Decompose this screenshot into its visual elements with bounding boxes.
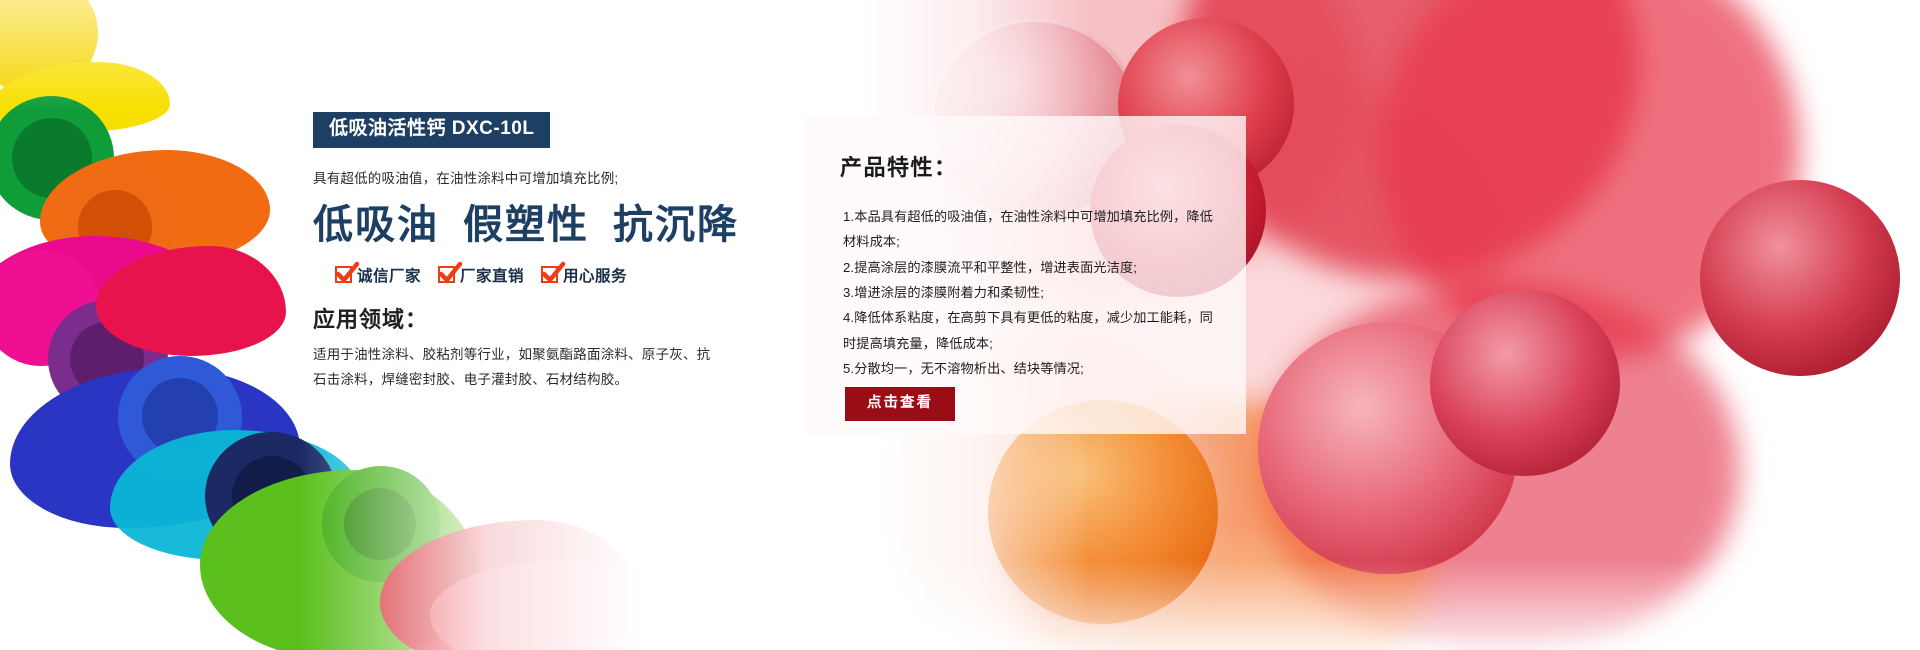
application-heading: 应用领域： <box>313 302 733 334</box>
headline-word-3: 抗沉降 <box>613 203 739 247</box>
trust-feature-2: 厂家直销 <box>438 264 524 286</box>
trust-feature-row: 诚信厂家 厂家直销 用心服务 <box>335 264 733 286</box>
check-box-icon <box>541 266 558 283</box>
banner-stage: 低吸油活性钙 DXC-10L 具有超低的吸油值，在油性涂料中可增加填充比例; 低… <box>0 0 1920 650</box>
product-title-badge: 低吸油活性钙 DXC-10L <box>313 112 550 148</box>
right-fade-overlay-bottom <box>860 560 1920 650</box>
feature-list-item: 2.提高涂层的漆膜流平和平整性，增进表面光洁度; <box>843 255 1225 280</box>
product-headline: 低吸油假塑性抗沉降 <box>313 203 733 248</box>
application-body: 适用于油性涂料、胶粘剂等行业，如聚氨酯路面涂料、原子灰、抗石击涂料，焊缝密封胶、… <box>313 343 721 392</box>
trust-feature-label: 用心服务 <box>563 264 627 286</box>
paint-dish-magenta-right <box>1430 290 1620 476</box>
feature-list-item: 3.增进涂层的漆膜附着力和柔韧性; <box>843 280 1225 305</box>
features-list: 1.本品具有超低的吸油值，在油性涂料中可增加填充比例，降低材料成本; 2.提高涂… <box>843 204 1225 381</box>
product-intro-column: 低吸油活性钙 DXC-10L 具有超低的吸油值，在油性涂料中可增加填充比例; 低… <box>313 112 733 392</box>
feature-list-item: 1.本品具有超低的吸油值，在油性涂料中可增加填充比例，降低材料成本; <box>843 204 1225 255</box>
check-box-icon <box>438 266 455 283</box>
collage-fade-overlay-top <box>0 0 640 110</box>
paint-dish-crimson-far <box>1700 180 1900 376</box>
trust-feature-1: 诚信厂家 <box>335 264 421 286</box>
headline-word-1: 低吸油 <box>313 203 439 247</box>
features-panel-heading: 产品特性： <box>840 150 958 182</box>
view-details-button[interactable]: 点击查看 <box>845 387 955 421</box>
product-features-panel: 产品特性： 1.本品具有超低的吸油值，在油性涂料中可增加填充比例，降低材料成本;… <box>805 116 1246 434</box>
product-subtitle: 具有超低的吸油值，在油性涂料中可增加填充比例; <box>313 169 733 189</box>
check-box-icon <box>335 266 352 283</box>
trust-feature-label: 诚信厂家 <box>357 264 421 286</box>
headline-word-2: 假塑性 <box>463 203 589 247</box>
trust-feature-3: 用心服务 <box>541 264 627 286</box>
feature-list-item: 4.降低体系粘度，在高剪下具有更低的粘度，减少加工能耗，同时提高填充量，降低成本… <box>843 305 1225 356</box>
trust-feature-label: 厂家直销 <box>460 264 524 286</box>
feature-list-item: 5.分散均一，无不溶物析出、结块等情况; <box>843 356 1225 381</box>
